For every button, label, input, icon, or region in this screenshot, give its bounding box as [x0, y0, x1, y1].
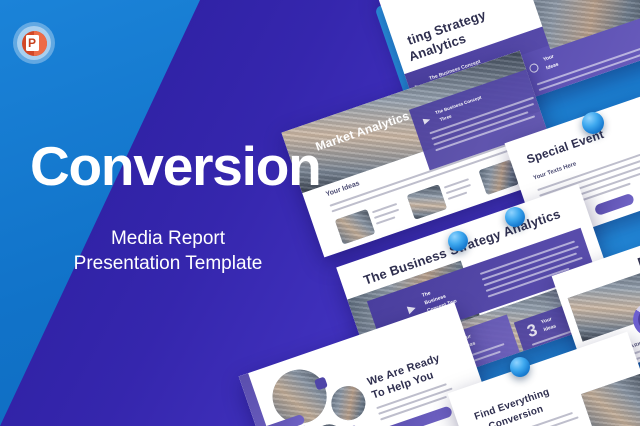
page-title: Conversion [30, 139, 321, 194]
powerpoint-badge: P [13, 22, 55, 64]
paper-plane-icon [423, 117, 432, 125]
powerpoint-icon: P [22, 31, 47, 56]
thumb-caption-line [448, 192, 467, 200]
button-join-now[interactable] [594, 193, 635, 216]
decor-blob-1 [314, 376, 328, 390]
thumb-caption-line [376, 216, 395, 224]
page-subtitle-line2: Presentation Template [28, 251, 308, 276]
slide-title: M [636, 252, 640, 270]
powerpoint-badge-ring: P [17, 26, 51, 60]
sphere-bottom [510, 357, 530, 377]
page-subtitle: Media Report Presentation Template [28, 226, 308, 276]
card-label-line1: The Business Concept [435, 95, 483, 116]
powerpoint-icon-letter: P [26, 35, 39, 51]
conference-photo [581, 373, 640, 426]
paper-plane-icon [407, 304, 417, 314]
sphere-lower [448, 231, 468, 251]
circular-photo-medium [327, 382, 370, 425]
preview-canvas: ting Strategy Analytics The Business Con… [0, 0, 640, 426]
step-number: 3 [525, 320, 540, 342]
thumb-team-meeting-photo [335, 209, 376, 245]
sphere-top-right [582, 112, 604, 134]
step-label-line2: Ideas [543, 323, 557, 333]
card-label-line1: Your [542, 54, 554, 63]
thumb-office-discussion-photo [407, 184, 448, 220]
marketing-team-photo [568, 260, 640, 342]
sphere-mid [505, 207, 525, 227]
card-label-line2: Three [439, 113, 452, 122]
page-subtitle-line1: Media Report [28, 226, 308, 251]
gear-icon [528, 62, 539, 73]
card-label-line2: Ideas [545, 62, 559, 72]
